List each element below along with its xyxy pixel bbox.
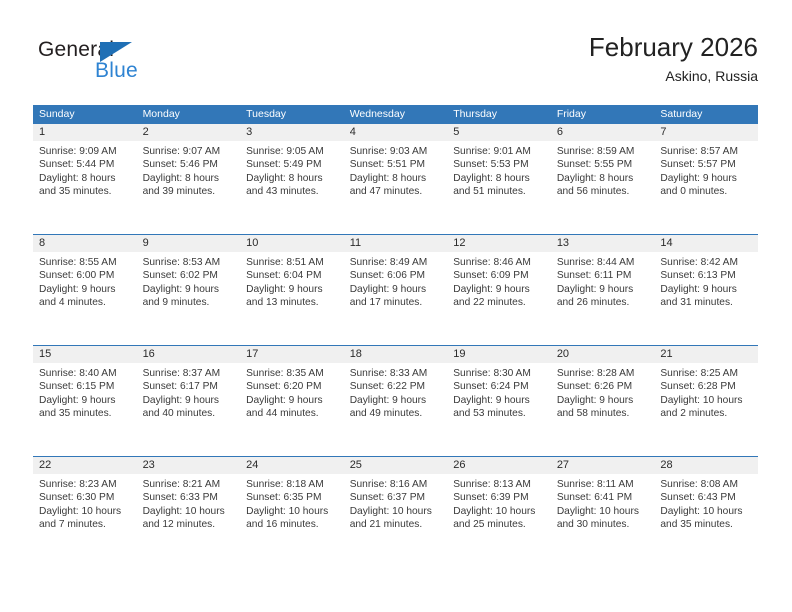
day-number: 9 — [137, 235, 241, 252]
day-number-band: 14 — [654, 235, 758, 252]
day-number-band: 11 — [344, 235, 448, 252]
day-number-band: 3 — [240, 124, 344, 141]
day-cell-body: Sunrise: 9:09 AM Sunset: 5:44 PM Dayligh… — [33, 141, 137, 198]
sunrise-text: Sunrise: 9:07 AM — [143, 145, 235, 158]
sunset-text: Sunset: 6:20 PM — [246, 380, 338, 393]
day-cell[interactable]: 22 Sunrise: 8:23 AM Sunset: 6:30 PM Dayl… — [33, 457, 137, 567]
sunrise-text: Sunrise: 8:57 AM — [660, 145, 752, 158]
day-cell-body: Sunrise: 8:18 AM Sunset: 6:35 PM Dayligh… — [240, 474, 344, 531]
day-number-band: 21 — [654, 346, 758, 363]
daylight-text-line1: Daylight: 8 hours — [143, 172, 235, 185]
daylight-text-line1: Daylight: 9 hours — [453, 283, 545, 296]
daylight-text-line1: Daylight: 10 hours — [660, 505, 752, 518]
daylight-text-line2: and 39 minutes. — [143, 185, 235, 198]
day-cell[interactable]: 24 Sunrise: 8:18 AM Sunset: 6:35 PM Dayl… — [240, 457, 344, 567]
daylight-text-line2: and 13 minutes. — [246, 296, 338, 309]
day-number: 16 — [137, 346, 241, 363]
day-cell-body: Sunrise: 8:16 AM Sunset: 6:37 PM Dayligh… — [344, 474, 448, 531]
day-number-band: 7 — [654, 124, 758, 141]
sunset-text: Sunset: 6:33 PM — [143, 491, 235, 504]
day-number: 21 — [654, 346, 758, 363]
day-number: 20 — [551, 346, 655, 363]
sunset-text: Sunset: 6:30 PM — [39, 491, 131, 504]
day-of-week-header-row: Sunday Monday Tuesday Wednesday Thursday… — [33, 105, 758, 124]
sunrise-text: Sunrise: 8:49 AM — [350, 256, 442, 269]
sunset-text: Sunset: 5:53 PM — [453, 158, 545, 171]
day-cell[interactable]: 6 Sunrise: 8:59 AM Sunset: 5:55 PM Dayli… — [551, 124, 655, 234]
dow-sunday: Sunday — [33, 105, 137, 124]
daylight-text-line2: and 35 minutes. — [39, 407, 131, 420]
day-cell[interactable]: 4 Sunrise: 9:03 AM Sunset: 5:51 PM Dayli… — [344, 124, 448, 234]
day-cell-body: Sunrise: 8:49 AM Sunset: 6:06 PM Dayligh… — [344, 252, 448, 309]
day-cell-body: Sunrise: 8:28 AM Sunset: 6:26 PM Dayligh… — [551, 363, 655, 420]
daylight-text-line1: Daylight: 8 hours — [453, 172, 545, 185]
sunset-text: Sunset: 6:22 PM — [350, 380, 442, 393]
daylight-text-line1: Daylight: 9 hours — [557, 283, 649, 296]
day-cell-body: Sunrise: 9:01 AM Sunset: 5:53 PM Dayligh… — [447, 141, 551, 198]
general-blue-logo[interactable]: General Blue — [38, 38, 248, 90]
day-number: 19 — [447, 346, 551, 363]
sunset-text: Sunset: 5:57 PM — [660, 158, 752, 171]
sunset-text: Sunset: 6:43 PM — [660, 491, 752, 504]
sunset-text: Sunset: 5:51 PM — [350, 158, 442, 171]
daylight-text-line1: Daylight: 10 hours — [246, 505, 338, 518]
dow-friday: Friday — [551, 105, 655, 124]
dow-thursday: Thursday — [447, 105, 551, 124]
sunset-text: Sunset: 6:35 PM — [246, 491, 338, 504]
day-cell[interactable]: 7 Sunrise: 8:57 AM Sunset: 5:57 PM Dayli… — [654, 124, 758, 234]
day-number: 18 — [344, 346, 448, 363]
day-number-band: 25 — [344, 457, 448, 474]
sunrise-text: Sunrise: 9:01 AM — [453, 145, 545, 158]
day-cell[interactable]: 19 Sunrise: 8:30 AM Sunset: 6:24 PM Dayl… — [447, 346, 551, 456]
daylight-text-line2: and 58 minutes. — [557, 407, 649, 420]
daylight-text-line1: Daylight: 10 hours — [660, 394, 752, 407]
day-number: 10 — [240, 235, 344, 252]
sunset-text: Sunset: 6:41 PM — [557, 491, 649, 504]
sunset-text: Sunset: 6:13 PM — [660, 269, 752, 282]
daylight-text-line2: and 31 minutes. — [660, 296, 752, 309]
day-number-band: 18 — [344, 346, 448, 363]
day-cell[interactable]: 23 Sunrise: 8:21 AM Sunset: 6:33 PM Dayl… — [137, 457, 241, 567]
day-number-band: 27 — [551, 457, 655, 474]
daylight-text-line2: and 49 minutes. — [350, 407, 442, 420]
daylight-text-line2: and 21 minutes. — [350, 518, 442, 531]
daylight-text-line1: Daylight: 9 hours — [39, 283, 131, 296]
daylight-text-line1: Daylight: 8 hours — [246, 172, 338, 185]
sunset-text: Sunset: 5:49 PM — [246, 158, 338, 171]
day-cell[interactable]: 5 Sunrise: 9:01 AM Sunset: 5:53 PM Dayli… — [447, 124, 551, 234]
day-number: 8 — [33, 235, 137, 252]
day-cell-body: Sunrise: 8:57 AM Sunset: 5:57 PM Dayligh… — [654, 141, 758, 198]
day-number: 26 — [447, 457, 551, 474]
day-cell-body: Sunrise: 9:03 AM Sunset: 5:51 PM Dayligh… — [344, 141, 448, 198]
calendar-week-row: 8 Sunrise: 8:55 AM Sunset: 6:00 PM Dayli… — [33, 234, 758, 345]
daylight-text-line1: Daylight: 9 hours — [350, 394, 442, 407]
daylight-text-line1: Daylight: 8 hours — [557, 172, 649, 185]
day-number-band: 23 — [137, 457, 241, 474]
day-cell[interactable]: 17 Sunrise: 8:35 AM Sunset: 6:20 PM Dayl… — [240, 346, 344, 456]
dow-monday: Monday — [137, 105, 241, 124]
day-number-band: 8 — [33, 235, 137, 252]
day-number-band: 26 — [447, 457, 551, 474]
sunrise-text: Sunrise: 8:37 AM — [143, 367, 235, 380]
day-cell-body: Sunrise: 8:59 AM Sunset: 5:55 PM Dayligh… — [551, 141, 655, 198]
sunset-text: Sunset: 6:39 PM — [453, 491, 545, 504]
day-cell[interactable]: 28 Sunrise: 8:08 AM Sunset: 6:43 PM Dayl… — [654, 457, 758, 567]
sunrise-text: Sunrise: 8:40 AM — [39, 367, 131, 380]
day-number: 15 — [33, 346, 137, 363]
sunset-text: Sunset: 5:55 PM — [557, 158, 649, 171]
day-number-band: 9 — [137, 235, 241, 252]
daylight-text-line1: Daylight: 10 hours — [350, 505, 442, 518]
daylight-text-line1: Daylight: 10 hours — [557, 505, 649, 518]
daylight-text-line2: and 43 minutes. — [246, 185, 338, 198]
calendar-page: General Blue February 2026 Askino, Russi… — [0, 0, 792, 612]
daylight-text-line2: and 7 minutes. — [39, 518, 131, 531]
sunset-text: Sunset: 6:15 PM — [39, 380, 131, 393]
sunset-text: Sunset: 6:24 PM — [453, 380, 545, 393]
day-number: 14 — [654, 235, 758, 252]
daylight-text-line2: and 26 minutes. — [557, 296, 649, 309]
day-number-band: 10 — [240, 235, 344, 252]
day-number: 11 — [344, 235, 448, 252]
day-cell-body: Sunrise: 8:40 AM Sunset: 6:15 PM Dayligh… — [33, 363, 137, 420]
day-cell-body: Sunrise: 8:44 AM Sunset: 6:11 PM Dayligh… — [551, 252, 655, 309]
daylight-text-line2: and 9 minutes. — [143, 296, 235, 309]
day-cell[interactable]: 11 Sunrise: 8:49 AM Sunset: 6:06 PM Dayl… — [344, 235, 448, 345]
sunrise-text: Sunrise: 8:55 AM — [39, 256, 131, 269]
daylight-text-line2: and 12 minutes. — [143, 518, 235, 531]
sunrise-text: Sunrise: 9:05 AM — [246, 145, 338, 158]
day-cell-body: Sunrise: 8:35 AM Sunset: 6:20 PM Dayligh… — [240, 363, 344, 420]
daylight-text-line1: Daylight: 8 hours — [350, 172, 442, 185]
day-number-band: 22 — [33, 457, 137, 474]
day-cell[interactable]: 26 Sunrise: 8:13 AM Sunset: 6:39 PM Dayl… — [447, 457, 551, 567]
day-cell-body: Sunrise: 8:42 AM Sunset: 6:13 PM Dayligh… — [654, 252, 758, 309]
day-cell-body: Sunrise: 8:37 AM Sunset: 6:17 PM Dayligh… — [137, 363, 241, 420]
day-number: 25 — [344, 457, 448, 474]
dow-saturday: Saturday — [654, 105, 758, 124]
day-cell-body: Sunrise: 8:46 AM Sunset: 6:09 PM Dayligh… — [447, 252, 551, 309]
sunrise-text: Sunrise: 8:46 AM — [453, 256, 545, 269]
day-number-band: 17 — [240, 346, 344, 363]
daylight-text-line2: and 0 minutes. — [660, 185, 752, 198]
daylight-text-line1: Daylight: 9 hours — [557, 394, 649, 407]
daylight-text-line2: and 40 minutes. — [143, 407, 235, 420]
dow-tuesday: Tuesday — [240, 105, 344, 124]
day-number: 4 — [344, 124, 448, 141]
daylight-text-line1: Daylight: 10 hours — [143, 505, 235, 518]
daylight-text-line2: and 35 minutes. — [660, 518, 752, 531]
sunset-text: Sunset: 6:00 PM — [39, 269, 131, 282]
daylight-text-line1: Daylight: 9 hours — [453, 394, 545, 407]
calendar-week-row: 15 Sunrise: 8:40 AM Sunset: 6:15 PM Dayl… — [33, 345, 758, 456]
daylight-text-line1: Daylight: 9 hours — [350, 283, 442, 296]
day-number: 5 — [447, 124, 551, 141]
day-number: 27 — [551, 457, 655, 474]
day-cell[interactable]: 21 Sunrise: 8:25 AM Sunset: 6:28 PM Dayl… — [654, 346, 758, 456]
day-cell-body: Sunrise: 8:53 AM Sunset: 6:02 PM Dayligh… — [137, 252, 241, 309]
day-cell[interactable]: 2 Sunrise: 9:07 AM Sunset: 5:46 PM Dayli… — [137, 124, 241, 234]
daylight-text-line1: Daylight: 9 hours — [39, 394, 131, 407]
page-title: February 2026 — [589, 30, 758, 64]
day-number-band: 15 — [33, 346, 137, 363]
day-cell-body: Sunrise: 8:11 AM Sunset: 6:41 PM Dayligh… — [551, 474, 655, 531]
dow-wednesday: Wednesday — [344, 105, 448, 124]
day-cell-body: Sunrise: 8:21 AM Sunset: 6:33 PM Dayligh… — [137, 474, 241, 531]
day-number: 6 — [551, 124, 655, 141]
daylight-text-line1: Daylight: 9 hours — [143, 283, 235, 296]
day-number-band: 16 — [137, 346, 241, 363]
day-cell[interactable]: 10 Sunrise: 8:51 AM Sunset: 6:04 PM Dayl… — [240, 235, 344, 345]
sunset-text: Sunset: 6:26 PM — [557, 380, 649, 393]
day-cell[interactable]: 20 Sunrise: 8:28 AM Sunset: 6:26 PM Dayl… — [551, 346, 655, 456]
daylight-text-line2: and 16 minutes. — [246, 518, 338, 531]
sunrise-text: Sunrise: 8:51 AM — [246, 256, 338, 269]
sunrise-text: Sunrise: 8:53 AM — [143, 256, 235, 269]
sunrise-text: Sunrise: 9:09 AM — [39, 145, 131, 158]
day-number: 2 — [137, 124, 241, 141]
day-number-band: 24 — [240, 457, 344, 474]
day-number: 23 — [137, 457, 241, 474]
calendar-week-row: 22 Sunrise: 8:23 AM Sunset: 6:30 PM Dayl… — [33, 456, 758, 567]
day-number: 24 — [240, 457, 344, 474]
sunset-text: Sunset: 6:11 PM — [557, 269, 649, 282]
sunrise-text: Sunrise: 8:23 AM — [39, 478, 131, 491]
day-cell[interactable]: 13 Sunrise: 8:44 AM Sunset: 6:11 PM Dayl… — [551, 235, 655, 345]
day-cell-body: Sunrise: 8:25 AM Sunset: 6:28 PM Dayligh… — [654, 363, 758, 420]
sunrise-text: Sunrise: 8:30 AM — [453, 367, 545, 380]
day-cell[interactable]: 8 Sunrise: 8:55 AM Sunset: 6:00 PM Dayli… — [33, 235, 137, 345]
daylight-text-line1: Daylight: 9 hours — [246, 394, 338, 407]
sunrise-text: Sunrise: 8:25 AM — [660, 367, 752, 380]
sunset-text: Sunset: 5:44 PM — [39, 158, 131, 171]
day-number-band: 13 — [551, 235, 655, 252]
day-number-band: 2 — [137, 124, 241, 141]
day-cell[interactable]: 15 Sunrise: 8:40 AM Sunset: 6:15 PM Dayl… — [33, 346, 137, 456]
day-number: 13 — [551, 235, 655, 252]
day-number: 12 — [447, 235, 551, 252]
day-cell[interactable]: 1 Sunrise: 9:09 AM Sunset: 5:44 PM Dayli… — [33, 124, 137, 234]
day-cell-body: Sunrise: 8:30 AM Sunset: 6:24 PM Dayligh… — [447, 363, 551, 420]
sunset-text: Sunset: 6:06 PM — [350, 269, 442, 282]
daylight-text-line2: and 47 minutes. — [350, 185, 442, 198]
sunrise-text: Sunrise: 8:42 AM — [660, 256, 752, 269]
daylight-text-line1: Daylight: 10 hours — [39, 505, 131, 518]
daylight-text-line1: Daylight: 10 hours — [453, 505, 545, 518]
daylight-text-line2: and 2 minutes. — [660, 407, 752, 420]
day-number-band: 19 — [447, 346, 551, 363]
day-number: 3 — [240, 124, 344, 141]
daylight-text-line2: and 51 minutes. — [453, 185, 545, 198]
day-cell-body: Sunrise: 8:33 AM Sunset: 6:22 PM Dayligh… — [344, 363, 448, 420]
daylight-text-line1: Daylight: 9 hours — [143, 394, 235, 407]
sunrise-text: Sunrise: 8:59 AM — [557, 145, 649, 158]
sunset-text: Sunset: 6:17 PM — [143, 380, 235, 393]
day-cell-body: Sunrise: 8:23 AM Sunset: 6:30 PM Dayligh… — [33, 474, 137, 531]
day-cell[interactable]: 12 Sunrise: 8:46 AM Sunset: 6:09 PM Dayl… — [447, 235, 551, 345]
day-cell[interactable]: 9 Sunrise: 8:53 AM Sunset: 6:02 PM Dayli… — [137, 235, 241, 345]
daylight-text-line2: and 4 minutes. — [39, 296, 131, 309]
calendar-grid: Sunday Monday Tuesday Wednesday Thursday… — [33, 105, 758, 567]
sunrise-text: Sunrise: 9:03 AM — [350, 145, 442, 158]
day-cell[interactable]: 16 Sunrise: 8:37 AM Sunset: 6:17 PM Dayl… — [137, 346, 241, 456]
day-number: 28 — [654, 457, 758, 474]
sunset-text: Sunset: 6:37 PM — [350, 491, 442, 504]
day-number-band: 1 — [33, 124, 137, 141]
day-cell-body: Sunrise: 8:13 AM Sunset: 6:39 PM Dayligh… — [447, 474, 551, 531]
sunrise-text: Sunrise: 8:21 AM — [143, 478, 235, 491]
day-number-band: 5 — [447, 124, 551, 141]
day-cell[interactable]: 27 Sunrise: 8:11 AM Sunset: 6:41 PM Dayl… — [551, 457, 655, 567]
daylight-text-line2: and 25 minutes. — [453, 518, 545, 531]
sunset-text: Sunset: 6:04 PM — [246, 269, 338, 282]
sunset-text: Sunset: 6:02 PM — [143, 269, 235, 282]
day-number-band: 28 — [654, 457, 758, 474]
day-number-band: 12 — [447, 235, 551, 252]
daylight-text-line2: and 56 minutes. — [557, 185, 649, 198]
day-number: 1 — [33, 124, 137, 141]
day-number: 7 — [654, 124, 758, 141]
day-number-band: 6 — [551, 124, 655, 141]
day-number: 22 — [33, 457, 137, 474]
day-cell-body: Sunrise: 9:07 AM Sunset: 5:46 PM Dayligh… — [137, 141, 241, 198]
day-number-band: 20 — [551, 346, 655, 363]
sunrise-text: Sunrise: 8:18 AM — [246, 478, 338, 491]
day-cell[interactable]: 14 Sunrise: 8:42 AM Sunset: 6:13 PM Dayl… — [654, 235, 758, 345]
sunset-text: Sunset: 5:46 PM — [143, 158, 235, 171]
daylight-text-line2: and 17 minutes. — [350, 296, 442, 309]
sunrise-text: Sunrise: 8:33 AM — [350, 367, 442, 380]
daylight-text-line1: Daylight: 9 hours — [660, 172, 752, 185]
sunset-text: Sunset: 6:09 PM — [453, 269, 545, 282]
daylight-text-line2: and 30 minutes. — [557, 518, 649, 531]
day-cell[interactable]: 3 Sunrise: 9:05 AM Sunset: 5:49 PM Dayli… — [240, 124, 344, 234]
title-block: February 2026 Askino, Russia — [589, 30, 758, 86]
page-subtitle: Askino, Russia — [589, 66, 758, 86]
daylight-text-line2: and 35 minutes. — [39, 185, 131, 198]
day-number-band: 4 — [344, 124, 448, 141]
sunrise-text: Sunrise: 8:35 AM — [246, 367, 338, 380]
calendar-week-row: 1 Sunrise: 9:09 AM Sunset: 5:44 PM Dayli… — [33, 124, 758, 234]
daylight-text-line1: Daylight: 9 hours — [660, 283, 752, 296]
day-cell[interactable]: 18 Sunrise: 8:33 AM Sunset: 6:22 PM Dayl… — [344, 346, 448, 456]
page-header: General Blue February 2026 Askino, Russi… — [33, 30, 758, 92]
day-cell-body: Sunrise: 8:51 AM Sunset: 6:04 PM Dayligh… — [240, 252, 344, 309]
daylight-text-line2: and 22 minutes. — [453, 296, 545, 309]
daylight-text-line2: and 53 minutes. — [453, 407, 545, 420]
day-cell-body: Sunrise: 8:55 AM Sunset: 6:00 PM Dayligh… — [33, 252, 137, 309]
day-number: 17 — [240, 346, 344, 363]
day-cell-body: Sunrise: 8:08 AM Sunset: 6:43 PM Dayligh… — [654, 474, 758, 531]
sunrise-text: Sunrise: 8:08 AM — [660, 478, 752, 491]
daylight-text-line1: Daylight: 8 hours — [39, 172, 131, 185]
day-cell[interactable]: 25 Sunrise: 8:16 AM Sunset: 6:37 PM Dayl… — [344, 457, 448, 567]
sunrise-text: Sunrise: 8:44 AM — [557, 256, 649, 269]
day-cell-body: Sunrise: 9:05 AM Sunset: 5:49 PM Dayligh… — [240, 141, 344, 198]
sunrise-text: Sunrise: 8:16 AM — [350, 478, 442, 491]
daylight-text-line1: Daylight: 9 hours — [246, 283, 338, 296]
sunrise-text: Sunrise: 8:11 AM — [557, 478, 649, 491]
logo-text-blue: Blue — [95, 59, 138, 83]
daylight-text-line2: and 44 minutes. — [246, 407, 338, 420]
sunrise-text: Sunrise: 8:28 AM — [557, 367, 649, 380]
sunset-text: Sunset: 6:28 PM — [660, 380, 752, 393]
sunrise-text: Sunrise: 8:13 AM — [453, 478, 545, 491]
